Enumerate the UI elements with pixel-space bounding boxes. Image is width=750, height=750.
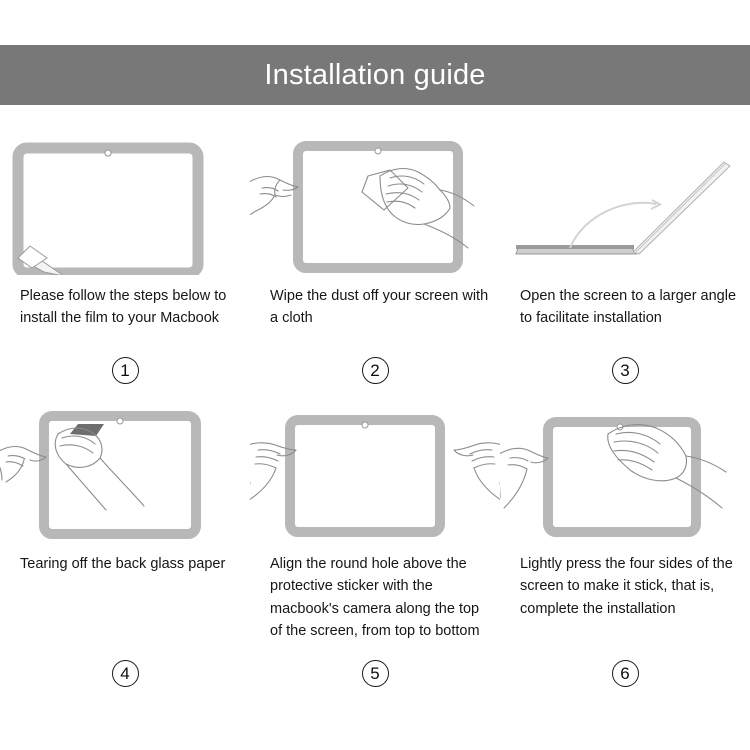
step-card-5: Align the round hole above the protectiv…: [250, 408, 500, 687]
step-6-number-wrap: 6: [500, 660, 750, 687]
step-4-illustration: [0, 408, 250, 543]
step-number-badge-6: 6: [612, 660, 639, 687]
step-5-number-wrap: 5: [250, 660, 500, 687]
step-1-illustration: [0, 140, 250, 275]
steps-row-top: Please follow the steps below to install…: [0, 140, 750, 384]
step-card-3: Open the screen to a larger angle to fac…: [500, 140, 750, 384]
step-card-6: Lightly press the four sides of the scre…: [500, 408, 750, 687]
step-number-badge-1: 1: [112, 357, 139, 384]
step-1-number-wrap: 1: [0, 357, 250, 384]
step-number-badge-2: 2: [362, 357, 389, 384]
page-title: Installation guide: [264, 61, 485, 90]
steps-grid: Please follow the steps below to install…: [0, 140, 750, 687]
header-banner: Installation guide: [0, 45, 750, 105]
step-2-illustration: [250, 140, 500, 275]
step-number-badge-3: 3: [612, 357, 639, 384]
step-3-illustration: [500, 140, 750, 275]
step-number-badge-5: 5: [362, 660, 389, 687]
step-5-text: Align the round hole above the protectiv…: [250, 553, 500, 658]
step-5-illustration: [250, 408, 500, 543]
step-6-text: Lightly press the four sides of the scre…: [500, 553, 750, 658]
step-3-text: Open the screen to a larger angle to fac…: [500, 285, 750, 355]
step-card-1: Please follow the steps below to install…: [0, 140, 250, 384]
step-card-2: Wipe the dust off your screen with a clo…: [250, 140, 500, 384]
step-6-illustration: [500, 408, 750, 543]
step-1-text: Please follow the steps below to install…: [0, 285, 250, 355]
step-2-text: Wipe the dust off your screen with a clo…: [250, 285, 500, 355]
steps-row-bottom: Tearing off the back glass paper 4: [0, 408, 750, 687]
step-4-text: Tearing off the back glass paper: [0, 553, 250, 658]
step-4-number-wrap: 4: [0, 660, 250, 687]
step-number-badge-4: 4: [112, 660, 139, 687]
step-3-number-wrap: 3: [500, 357, 750, 384]
step-card-4: Tearing off the back glass paper 4: [0, 408, 250, 687]
step-2-number-wrap: 2: [250, 357, 500, 384]
